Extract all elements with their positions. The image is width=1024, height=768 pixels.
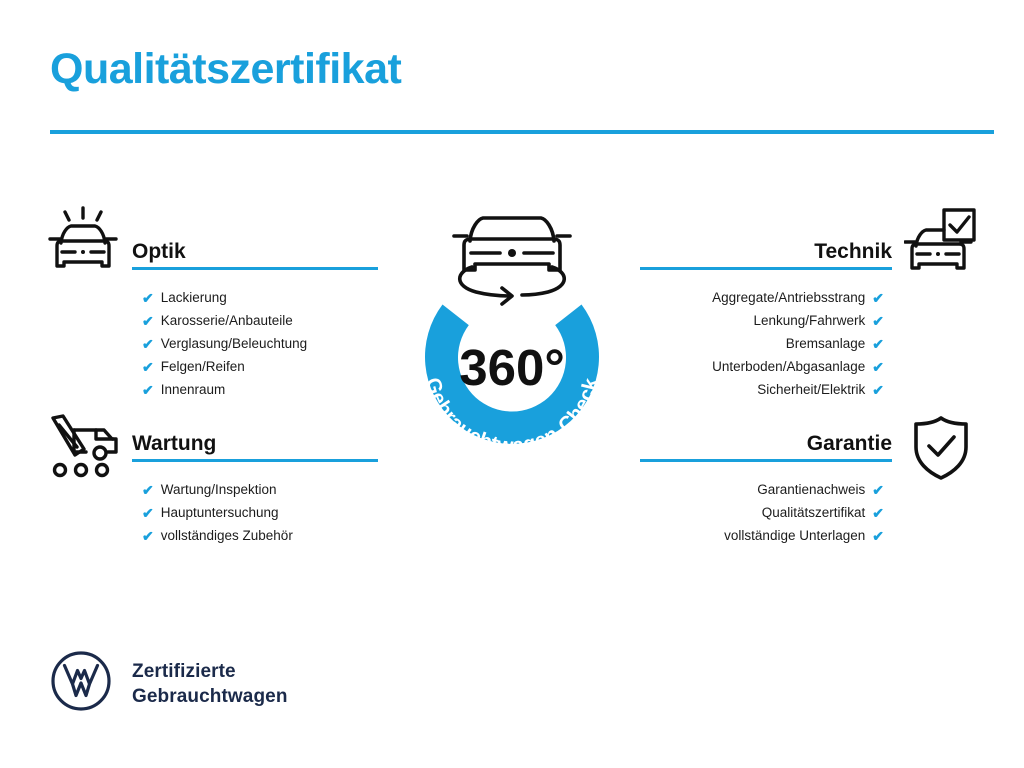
check-icon: ✔ (142, 383, 154, 397)
section-garantie-title: Garantie (640, 432, 892, 456)
footer-line-1: Zertifizierte (132, 659, 288, 684)
section-garantie-head: Garantie (640, 432, 892, 466)
section-wartung-title: Wartung (132, 432, 378, 456)
check-icon: ✔ (872, 506, 884, 520)
page-title: Qualitätszertifikat (50, 48, 401, 91)
list-item-label: Lenkung/Fahrwerk (753, 309, 865, 332)
list-item: Garantienachweis✔ (640, 478, 892, 501)
section-garantie-divider (640, 459, 892, 462)
section-technik-divider (640, 267, 892, 270)
list-item: Aggregate/Antriebsstrang✔ (640, 286, 892, 309)
section-optik-list: ✔Lackierung ✔Karosserie/Anbauteile ✔Verg… (132, 286, 378, 401)
list-item: Lenkung/Fahrwerk✔ (640, 309, 892, 332)
section-wartung-list: ✔Wartung/Inspektion ✔Hauptuntersuchung ✔… (132, 478, 378, 547)
list-item-label: Lackierung (161, 286, 227, 309)
section-technik: Technik Aggregate/Antriebsstrang✔ Lenkun… (640, 240, 892, 401)
check-icon: ✔ (872, 360, 884, 374)
certificate-page: Qualitätszertifikat (0, 0, 1024, 768)
list-item-label: Aggregate/Antriebsstrang (712, 286, 865, 309)
section-technik-title: Technik (640, 240, 892, 264)
section-wartung-divider (132, 459, 378, 462)
check-icon: ✔ (142, 337, 154, 351)
title-divider (50, 130, 994, 134)
section-optik-title: Optik (132, 240, 378, 264)
badge-center-label: 360° (459, 339, 565, 396)
check-icon: ✔ (142, 529, 154, 543)
car-checkbox-icon (904, 206, 978, 283)
list-item-label: Hauptuntersuchung (161, 501, 279, 524)
list-item: Bremsanlage✔ (640, 332, 892, 355)
section-wartung: Wartung ✔Wartung/Inspektion ✔Hauptunters… (132, 432, 378, 547)
check-icon: ✔ (142, 314, 154, 328)
list-item-label: vollständige Unterlagen (724, 524, 865, 547)
check-icon: ✔ (142, 291, 154, 305)
list-item-label: Qualitätszertifikat (762, 501, 866, 524)
section-wartung-head: Wartung (132, 432, 378, 466)
vw-logo-icon (50, 650, 112, 717)
list-item: ✔Lackierung (132, 286, 378, 309)
list-item-label: Wartung/Inspektion (161, 478, 277, 501)
check-icon: ✔ (872, 483, 884, 497)
section-technik-head: Technik (640, 240, 892, 274)
car-service-tool-icon (44, 412, 122, 483)
check-icon: ✔ (872, 291, 884, 305)
shield-check-icon (910, 414, 972, 487)
list-item: vollständige Unterlagen✔ (640, 524, 892, 547)
section-optik: Optik ✔Lackierung ✔Karosserie/Anbauteile… (132, 240, 378, 401)
car-shine-icon (46, 206, 120, 283)
list-item: ✔vollständiges Zubehör (132, 524, 378, 547)
section-optik-head: Optik (132, 240, 378, 274)
list-item: Sicherheit/Elektrik✔ (640, 378, 892, 401)
list-item: ✔Hauptuntersuchung (132, 501, 378, 524)
footer-brand: Zertifizierte Gebrauchtwagen (50, 650, 288, 717)
car-rotation-icon (454, 218, 570, 304)
list-item-label: Sicherheit/Elektrik (757, 378, 865, 401)
section-garantie-list: Garantienachweis✔ Qualitätszertifikat✔ v… (640, 478, 892, 547)
check-icon: ✔ (142, 360, 154, 374)
check-icon: ✔ (142, 506, 154, 520)
list-item: ✔Karosserie/Anbauteile (132, 309, 378, 332)
list-item-label: Innenraum (161, 378, 226, 401)
footer-brand-text: Zertifizierte Gebrauchtwagen (132, 659, 288, 709)
list-item: Unterboden/Abgasanlage✔ (640, 355, 892, 378)
check-icon: ✔ (872, 529, 884, 543)
360-check-badge: Gebrauchtwagen-Check 360° (382, 190, 642, 490)
check-icon: ✔ (142, 483, 154, 497)
list-item: ✔Verglasung/Beleuchtung (132, 332, 378, 355)
list-item-label: Bremsanlage (786, 332, 866, 355)
list-item: Qualitätszertifikat✔ (640, 501, 892, 524)
list-item: ✔Wartung/Inspektion (132, 478, 378, 501)
section-garantie: Garantie Garantienachweis✔ Qualitätszert… (640, 432, 892, 547)
list-item-label: Unterboden/Abgasanlage (712, 355, 865, 378)
check-icon: ✔ (872, 314, 884, 328)
list-item: ✔Felgen/Reifen (132, 355, 378, 378)
list-item: ✔Innenraum (132, 378, 378, 401)
check-icon: ✔ (872, 337, 884, 351)
section-optik-divider (132, 267, 378, 270)
check-icon: ✔ (872, 383, 884, 397)
footer-line-2: Gebrauchtwagen (132, 684, 288, 709)
list-item-label: Garantienachweis (757, 478, 865, 501)
list-item-label: vollständiges Zubehör (161, 524, 293, 547)
list-item-label: Karosserie/Anbauteile (161, 309, 293, 332)
list-item-label: Felgen/Reifen (161, 355, 245, 378)
list-item-label: Verglasung/Beleuchtung (161, 332, 307, 355)
section-technik-list: Aggregate/Antriebsstrang✔ Lenkung/Fahrwe… (640, 286, 892, 401)
